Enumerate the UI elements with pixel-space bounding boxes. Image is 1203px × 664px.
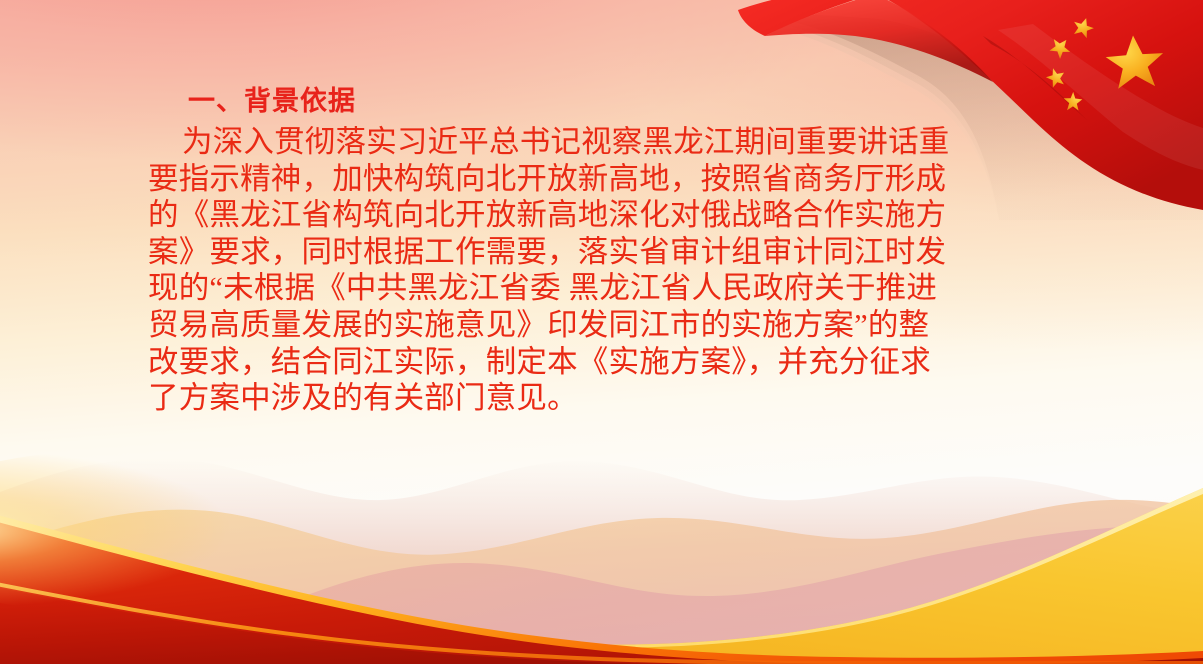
body-line: 了方案中涉及的有关部门意见。 [148, 380, 948, 417]
body-paragraph: 为深入贯彻落实习近平总书记视察黑龙江期间重要讲话重 要指示精神，加快构筑向北开放… [148, 124, 948, 417]
bottom-scenery-decoration [0, 404, 1203, 664]
body-line: 案》要求，同时根据工作需要，落实省审计组审计同江时发 [148, 234, 948, 271]
slide-text-content: 一、背景依据 为深入贯彻落实习近平总书记视察黑龙江期间重要讲话重 要指示精神，加… [148, 82, 948, 417]
body-line: 现的“未根据《中共黑龙江省委 黑龙江省人民政府关于推进 [148, 270, 948, 307]
body-line: 贸易高质量发展的实施意见》印发同江市的实施方案”的整 [148, 307, 948, 344]
body-line: 要指示精神，加快构筑向北开放新高地，按照省商务厅形成 [148, 161, 948, 198]
body-line: 的《黑龙江省构筑向北开放新高地深化对俄战略合作实施方 [148, 197, 948, 234]
body-line: 改要求，结合同江实际，制定本《实施方案》，并充分征求 [148, 344, 948, 381]
slide-canvas: 一、背景依据 为深入贯彻落实习近平总书记视察黑龙江期间重要讲话重 要指示精神，加… [0, 0, 1203, 664]
body-line: 为深入贯彻落实习近平总书记视察黑龙江期间重要讲话重 [148, 124, 948, 161]
section-heading: 一、背景依据 [148, 82, 948, 120]
